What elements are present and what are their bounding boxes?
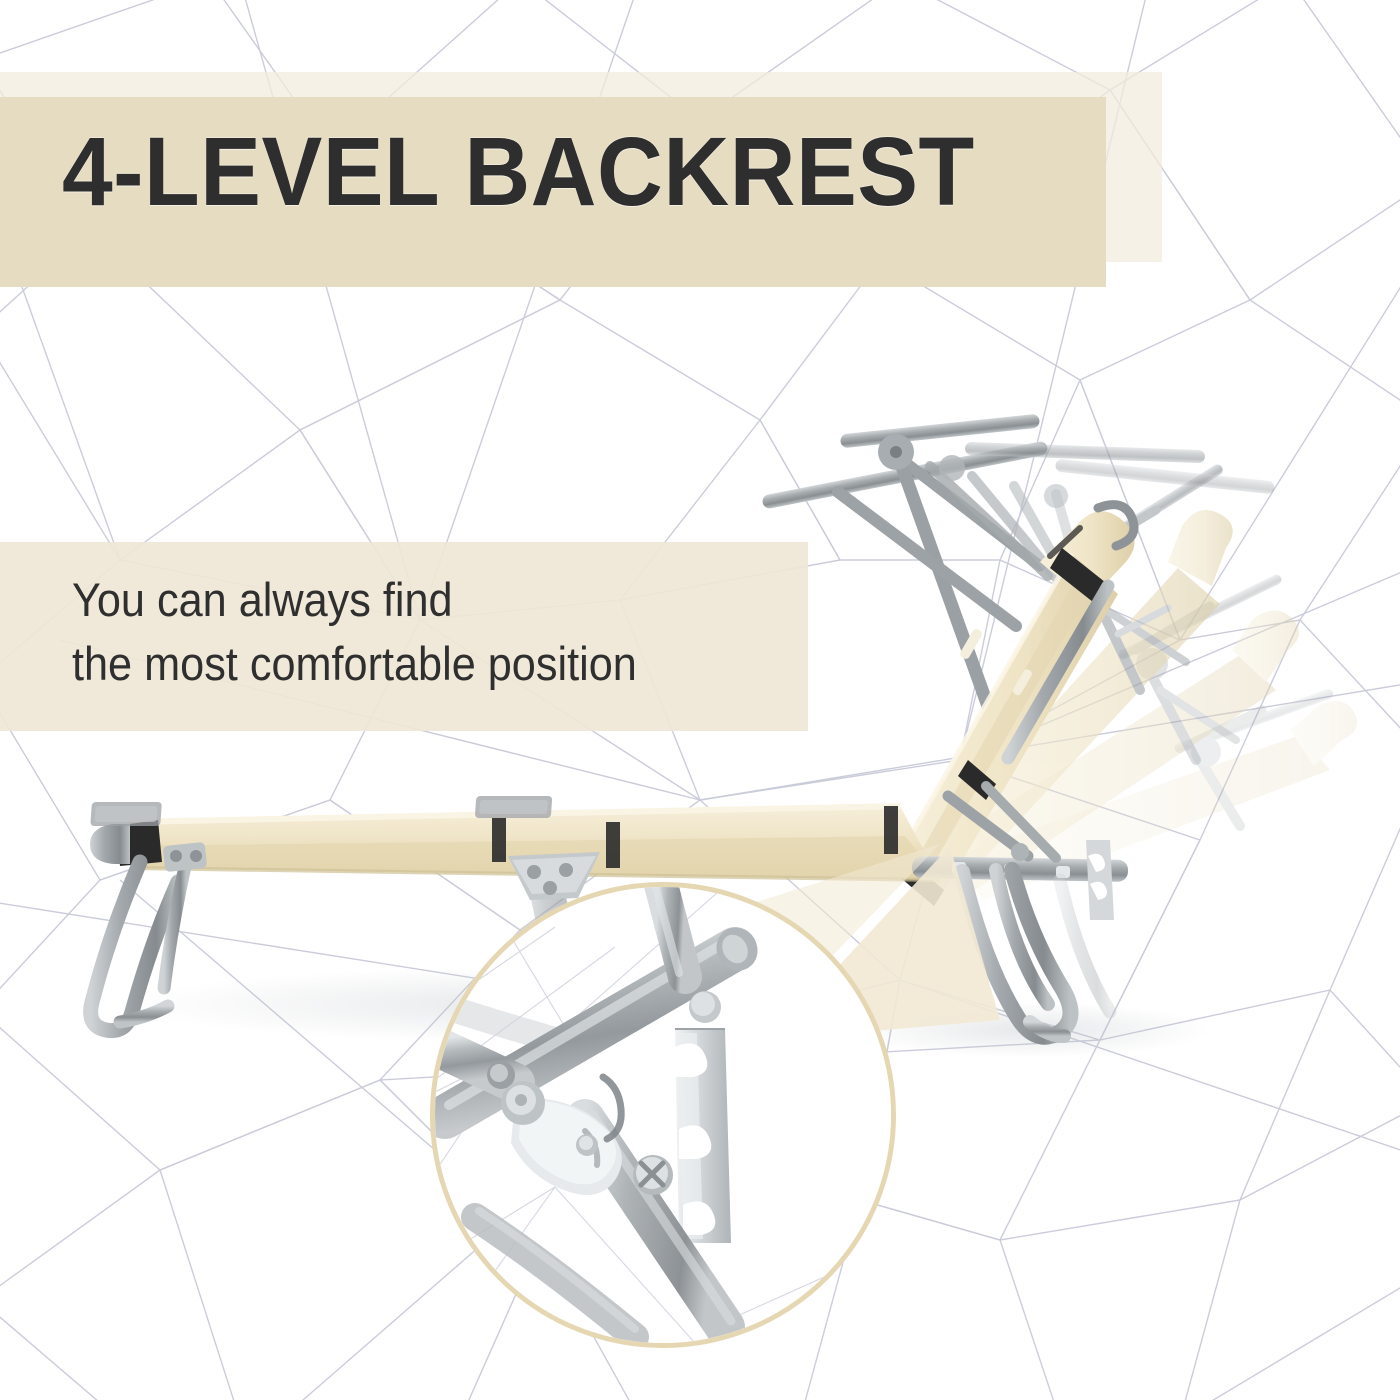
subhead-line-1: You can always find [72,568,637,632]
page-title: 4-LEVEL BACKREST [62,122,975,222]
subhead-line-2: the most comfortable position [72,632,637,696]
marketing-image-canvas: 4-LEVEL BACKREST You can always find the… [0,0,1400,1400]
bracket-closeup-callout [430,882,896,1348]
subhead: You can always find the most comfortable… [72,568,637,696]
